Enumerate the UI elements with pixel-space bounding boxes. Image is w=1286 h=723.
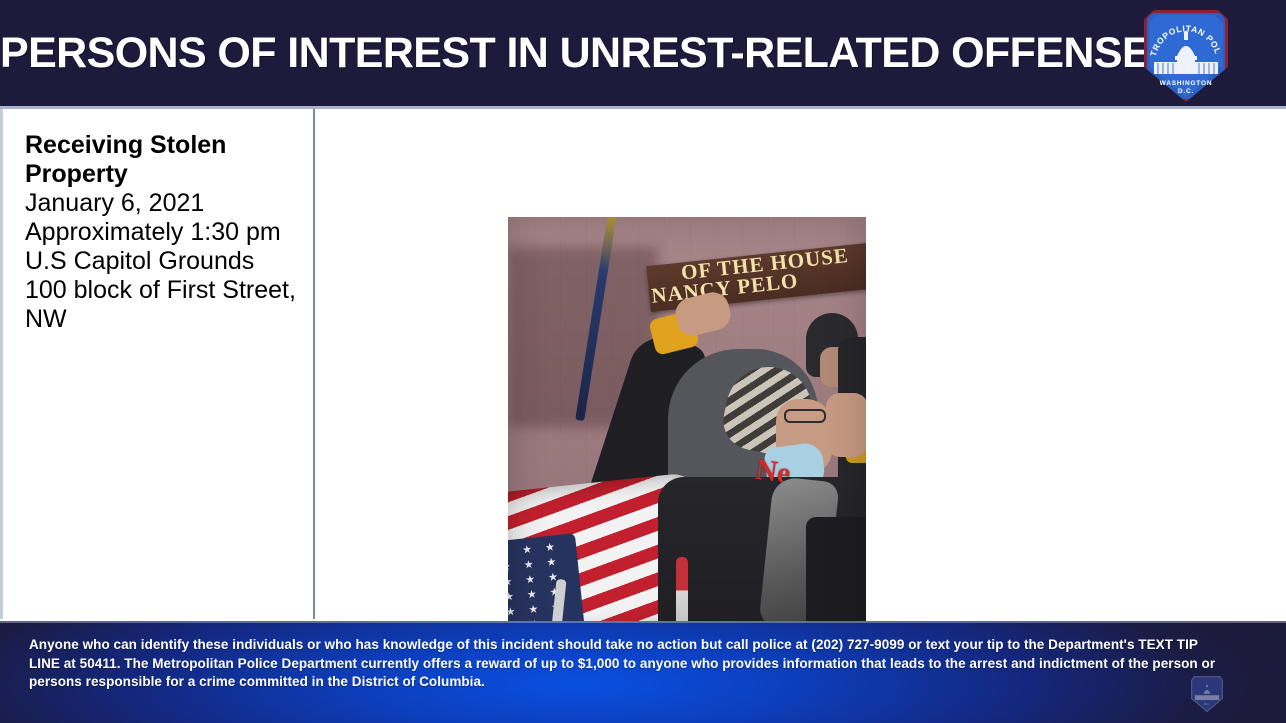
vertical-divider — [313, 109, 315, 619]
footer-banner: Anyone who can identify these individual… — [0, 621, 1286, 723]
case-time: Approximately 1:30 pm — [25, 218, 297, 247]
footer-top-border — [0, 621, 1286, 623]
badge-small-artwork: D.C. — [1190, 675, 1224, 712]
photo-second-hand — [826, 393, 866, 457]
photo-glasses — [784, 409, 826, 423]
content-area: Receiving Stolen Property January 6, 202… — [0, 109, 1286, 619]
case-details: Receiving Stolen Property January 6, 202… — [25, 131, 297, 334]
page-header: PERSONS OF INTEREST IN UNREST-RELATED OF… — [0, 0, 1286, 106]
svg-text:WASHINGTON: WASHINGTON — [1160, 80, 1213, 87]
footer-notice-text: Anyone who can identify these individual… — [29, 636, 1229, 692]
mpd-badge-small-icon: D.C. — [1190, 675, 1224, 713]
case-address-line-1: 100 block of First Street, — [25, 276, 297, 305]
svg-text:D.C.: D.C. — [1178, 88, 1194, 95]
case-address-line-2: NW — [25, 305, 297, 334]
case-location: U.S Capitol Grounds — [25, 247, 297, 276]
mpd-badge-icon: METROPOLITAN POLICE WASHIN — [1144, 10, 1228, 102]
case-offense: Receiving Stolen Property — [25, 131, 297, 189]
svg-text:D.C.: D.C. — [1204, 702, 1210, 706]
case-date: January 6, 2021 — [25, 189, 297, 218]
badge-artwork: METROPOLITAN POLICE WASHIN — [1144, 10, 1228, 102]
page-title: PERSONS OF INTEREST IN UNREST-RELATED OF… — [0, 26, 1100, 80]
